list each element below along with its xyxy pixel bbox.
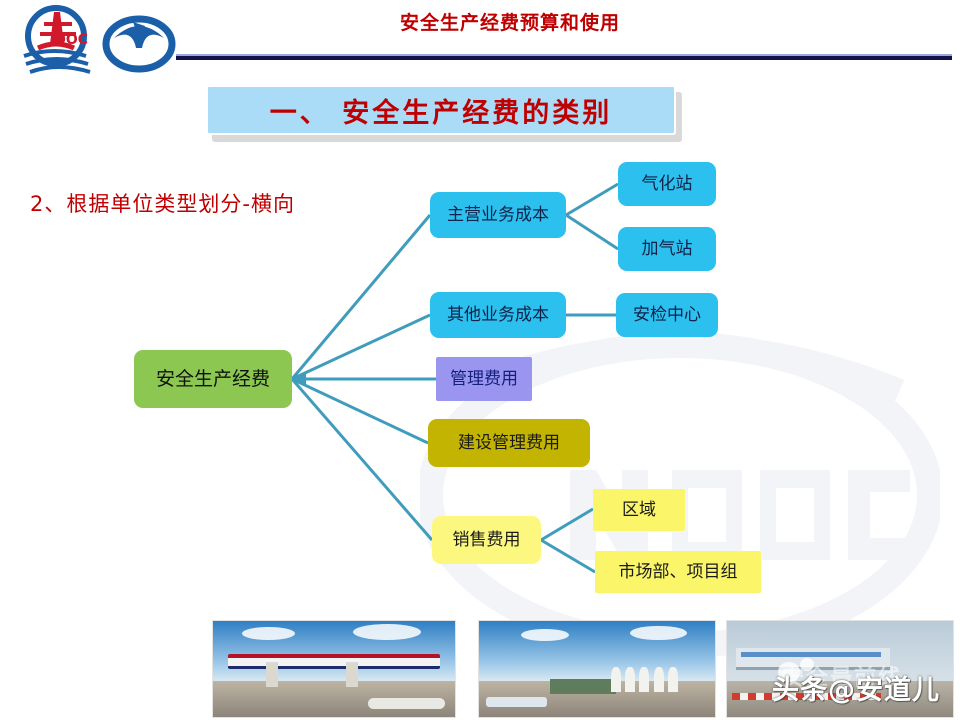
station-pillar: [346, 662, 358, 687]
node-label: 加气站: [642, 241, 693, 258]
silo-icon: [654, 667, 664, 692]
cnooc-logo-icon: OOC: [24, 8, 90, 72]
page-title: 安全生产经费预算和使用: [300, 8, 720, 35]
section-banner-title: 一、 安全生产经费的类别: [270, 91, 612, 130]
silo-icon: [625, 667, 635, 692]
section-subtitle: 2、根据单位类型划分-横向: [30, 188, 295, 218]
slide-canvas: OOC 安全生产经费预算和使用 一、 安全生产经费的类别 2、根据单位类型划分-…: [0, 0, 960, 720]
diagram-node-root[interactable]: 安全生产经费: [134, 350, 292, 408]
divider-bottom-line: [176, 56, 952, 60]
header-logos: OOC: [14, 4, 184, 76]
node-label: 主营业务成本: [447, 207, 549, 224]
diagram-node-inspection-center[interactable]: 安检中心: [616, 293, 718, 337]
gas-company-logo-icon: [106, 19, 172, 69]
cloud-icon: [521, 629, 568, 641]
station-pillar: [266, 662, 278, 687]
silo-icon: [668, 667, 678, 692]
cloud-icon: [353, 624, 421, 640]
gas-station-photo: [212, 620, 456, 718]
header-divider: [176, 54, 952, 62]
node-label: 其他业务成本: [447, 307, 549, 324]
storage-tank: [368, 698, 445, 710]
diagram-node-management-fee[interactable]: 管理费用: [436, 357, 532, 401]
node-label: 气化站: [642, 176, 693, 193]
plant-structure: [550, 679, 616, 694]
watermark-text: 头条@安道儿: [772, 668, 940, 707]
lng-plant-photo: [478, 620, 716, 718]
node-label: 管理费用: [450, 371, 518, 388]
silo-icon: [611, 667, 621, 692]
section-banner: 一、 安全生产经费的类别: [206, 85, 676, 135]
node-label: 建设管理费用: [458, 435, 560, 452]
node-label: 安全生产经费: [156, 370, 270, 389]
node-label: 市场部、项目组: [619, 564, 738, 581]
node-label: 区域: [622, 502, 656, 519]
diagram-node-sales-fee[interactable]: 销售费用: [432, 516, 541, 564]
silo-icon: [639, 667, 649, 692]
node-label: 安检中心: [633, 307, 701, 324]
diagram-node-marketing-project-team[interactable]: 市场部、项目组: [595, 551, 761, 593]
diagram-node-main-business-cost[interactable]: 主营业务成本: [430, 192, 566, 238]
tanker-truck: [486, 697, 547, 708]
diagram-node-gasification-station[interactable]: 气化站: [618, 162, 716, 206]
diagram-node-construction-management-fee[interactable]: 建设管理费用: [428, 419, 590, 467]
svg-text:OOC: OOC: [54, 32, 88, 48]
diagram-node-region[interactable]: 区域: [593, 489, 685, 531]
diagram-node-refuelling-station[interactable]: 加气站: [618, 227, 716, 271]
station-canopy: [228, 654, 441, 670]
diagram-node-other-business-cost[interactable]: 其他业务成本: [430, 292, 566, 338]
node-label: 销售费用: [453, 532, 521, 549]
building-signboard: [741, 652, 881, 657]
cloud-icon: [630, 626, 687, 640]
